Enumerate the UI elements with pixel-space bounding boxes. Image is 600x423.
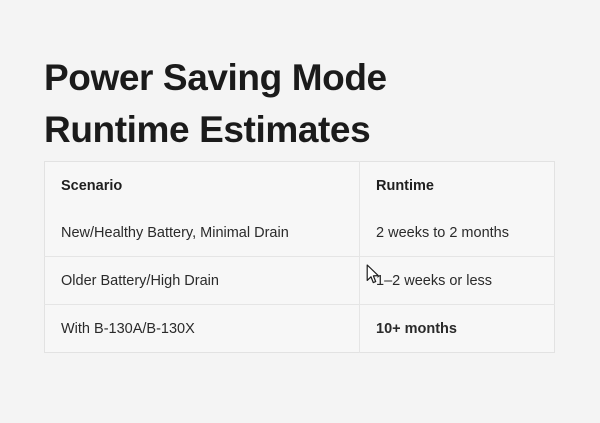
cell-runtime: 2 weeks to 2 months [360,209,555,257]
column-header-runtime: Runtime [360,162,555,210]
table-header: Scenario Runtime [45,162,555,210]
page-title: Power Saving Mode Runtime Estimates [44,52,544,156]
cell-runtime: 1–2 weeks or less [360,257,555,305]
document-page: Power Saving Mode Runtime Estimates Scen… [0,0,600,423]
table-row: With B-130A/B-130X 10+ months [45,305,555,353]
table-row: Older Battery/High Drain 1–2 weeks or le… [45,257,555,305]
column-header-scenario: Scenario [45,162,360,210]
cell-scenario: New/Healthy Battery, Minimal Drain [45,209,360,257]
cell-scenario: Older Battery/High Drain [45,257,360,305]
cell-runtime: 10+ months [360,305,555,353]
cell-scenario: With B-130A/B-130X [45,305,360,353]
table-row: New/Healthy Battery, Minimal Drain 2 wee… [45,209,555,257]
runtime-estimates-table: Scenario Runtime New/Healthy Battery, Mi… [44,161,555,353]
table-body: New/Healthy Battery, Minimal Drain 2 wee… [45,209,555,353]
table-header-row: Scenario Runtime [45,162,555,210]
